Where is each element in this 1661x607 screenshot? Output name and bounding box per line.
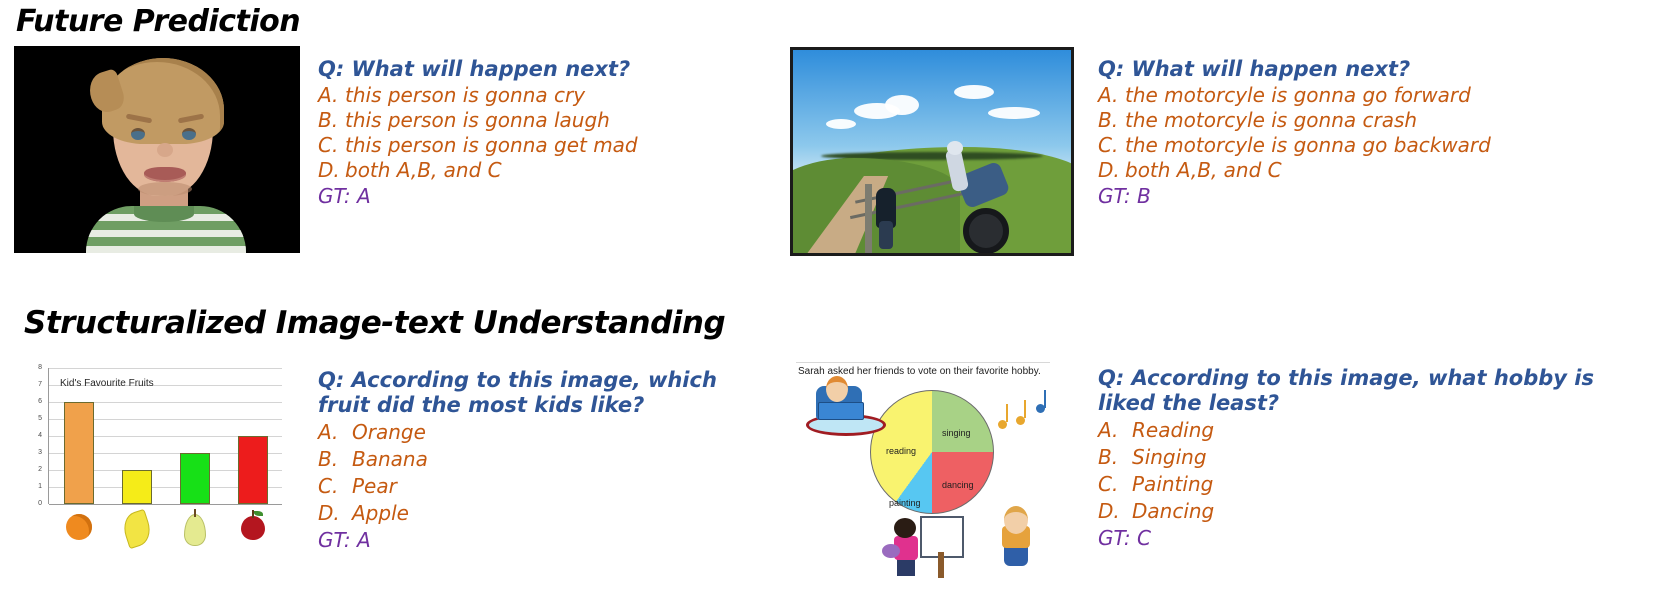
ground-truth-row: GT: B — [1098, 183, 1658, 209]
y-axis-tick: 2 — [18, 466, 42, 473]
question-text: Q: What will happen next? — [1098, 57, 1658, 82]
ground-truth-answer: C — [1137, 526, 1151, 550]
ground-truth-row: GT: A — [318, 527, 738, 553]
option-row: D. both A,B, and C — [1098, 158, 1658, 183]
painting-child-legs-icon — [897, 558, 915, 576]
y-axis-tick: 6 — [18, 398, 42, 405]
boy-eye-right — [182, 128, 196, 140]
boy-nose — [157, 143, 173, 157]
bar-chart-category-icons — [50, 508, 282, 550]
boy-eye-left — [131, 128, 145, 140]
option-key: B. — [318, 446, 352, 473]
option-text: both A,B, and C — [345, 158, 738, 183]
option-key: D. — [318, 158, 345, 183]
fence-post — [865, 184, 872, 253]
option-row: A. Orange — [318, 419, 738, 446]
cloud — [954, 85, 994, 99]
y-axis-tick: 8 — [18, 364, 42, 371]
option-text: Painting — [1132, 471, 1618, 498]
painting-child-head-icon — [894, 518, 916, 538]
y-axis-tick: 4 — [18, 432, 42, 439]
pie-slice-label-singing: singing — [942, 428, 971, 438]
option-row: D. both A,B, and C — [318, 158, 738, 183]
option-row: B. the motorcyle is gonna crash — [1098, 108, 1658, 133]
option-row: D. Apple — [318, 500, 738, 527]
orange-icon — [64, 508, 94, 548]
option-key: C. — [1098, 471, 1132, 498]
option-row: A. the motorcyle is gonna go forward — [1098, 83, 1658, 108]
pear-icon — [180, 508, 210, 548]
book-icon — [818, 402, 864, 420]
boy-mouth-frowning — [144, 167, 186, 182]
question-text: Q: According to this image, what hobby i… — [1098, 366, 1618, 416]
motorcycle-scene-illustration — [793, 50, 1071, 253]
motorcycle-wheel — [963, 208, 1009, 253]
option-text: Orange — [352, 419, 738, 446]
option-text: Singing — [1132, 444, 1618, 471]
option-text: this person is gonna cry — [345, 83, 738, 108]
kids-favourite-fruits-bar-chart: 8 7 6 5 4 3 2 1 0 Kid's Favourite Fruits — [18, 362, 290, 552]
question-text: Q: What will happen next? — [318, 57, 738, 82]
ground-truth-label: GT: — [1098, 184, 1137, 208]
option-row: C. Pear — [318, 473, 738, 500]
option-key: C. — [1098, 133, 1125, 158]
banana-icon — [122, 508, 152, 548]
option-row: B. Banana — [318, 446, 738, 473]
boy-collar — [134, 206, 194, 222]
option-text: the motorcyle is gonna crash — [1125, 108, 1658, 133]
option-key: C. — [318, 473, 352, 500]
ground-truth-row: GT: A — [318, 183, 738, 209]
ground-truth-answer: A — [357, 184, 371, 208]
option-key: A. — [318, 419, 352, 446]
standing-person-legs — [879, 221, 893, 249]
bar-series — [50, 368, 282, 504]
crying-boy-illustration — [14, 46, 300, 253]
ground-truth-label: GT: — [318, 184, 357, 208]
qa-block-struct-1: Q: According to this image, which fruit … — [318, 368, 738, 553]
ground-truth-row: GT: C — [1098, 525, 1618, 551]
music-notes-icon — [996, 394, 1052, 444]
reading-child-head-icon — [826, 376, 848, 402]
boy-hair — [102, 58, 224, 144]
bar-pear — [180, 453, 210, 504]
boy-chin — [138, 182, 192, 196]
option-text: this person is gonna laugh — [345, 108, 738, 133]
qa-block-future-2: Q: What will happen next? A. the motorcy… — [1098, 57, 1658, 209]
bar-banana — [122, 470, 152, 504]
apple-icon — [238, 508, 268, 548]
dancing-child-legs-icon — [1004, 546, 1028, 566]
bar-orange — [64, 402, 94, 504]
option-key: D. — [318, 500, 352, 527]
question-text: Q: According to this image, which fruit … — [318, 368, 738, 418]
y-axis-tick: 0 — [18, 500, 42, 507]
ground-truth-label: GT: — [1098, 526, 1137, 550]
ground-truth-answer: A — [357, 528, 371, 552]
dancing-child-head-icon — [1004, 506, 1028, 534]
option-text: both A,B, and C — [1125, 158, 1658, 183]
pie-slice-label-dancing: dancing — [942, 480, 974, 490]
qa-block-struct-2: Q: According to this image, what hobby i… — [1098, 366, 1618, 551]
y-axis-tick: 5 — [18, 415, 42, 422]
option-text: the motorcyle is gonna go backward — [1125, 133, 1535, 158]
option-row: C. Painting — [1098, 471, 1618, 498]
option-key: D. — [1098, 158, 1125, 183]
option-text: Dancing — [1132, 498, 1618, 525]
motorcycle-field-photo — [790, 47, 1074, 256]
y-axis-tick: 3 — [18, 449, 42, 456]
cloud — [988, 107, 1040, 119]
option-row: B. Singing — [1098, 444, 1618, 471]
option-text: Apple — [352, 500, 738, 527]
option-row: D. Dancing — [1098, 498, 1618, 525]
qa-block-future-1: Q: What will happen next? A. this person… — [318, 57, 738, 209]
pie-slice-label-painting: painting — [889, 498, 921, 508]
option-key: D. — [1098, 498, 1132, 525]
option-text: Reading — [1132, 417, 1618, 444]
crying-boy-photo — [14, 46, 300, 253]
section-heading-future-prediction: Future Prediction — [16, 4, 300, 39]
option-text: Banana — [352, 446, 738, 473]
option-key: A. — [1098, 417, 1132, 444]
option-text: Pear — [352, 473, 738, 500]
option-row: C. this person is gonna get mad — [318, 133, 738, 158]
option-key: C. — [318, 133, 345, 158]
option-row: B. this person is gonna laugh — [318, 108, 738, 133]
ground-truth-label: GT: — [318, 528, 357, 552]
cloud — [885, 95, 919, 115]
pie-slice-label-reading: reading — [886, 446, 916, 456]
option-text: this person is gonna get mad — [345, 133, 738, 158]
option-key: A. — [1098, 83, 1125, 108]
ground-truth-answer: B — [1137, 184, 1151, 208]
option-row: A. this person is gonna cry — [318, 83, 738, 108]
option-key: B. — [1098, 444, 1132, 471]
paint-palette-icon — [882, 544, 900, 558]
bar-apple — [238, 436, 268, 504]
easel-leg-icon — [938, 552, 944, 578]
section-heading-structuralized-image-text-understanding: Structuralized Image-text Understanding — [24, 305, 725, 341]
y-axis-tick: 7 — [18, 381, 42, 388]
y-axis-tick: 1 — [18, 483, 42, 490]
option-key: A. — [318, 83, 345, 108]
option-key: B. — [318, 108, 345, 133]
option-key: B. — [1098, 108, 1125, 133]
favorite-hobby-pie-chart: Sarah asked her friends to vote on their… — [790, 358, 1090, 588]
divider-line — [796, 362, 1050, 363]
option-row: A. Reading — [1098, 417, 1618, 444]
option-text: the motorcyle is gonna go forward — [1125, 83, 1658, 108]
option-row: C. the motorcyle is gonna go backward — [1098, 133, 1658, 158]
